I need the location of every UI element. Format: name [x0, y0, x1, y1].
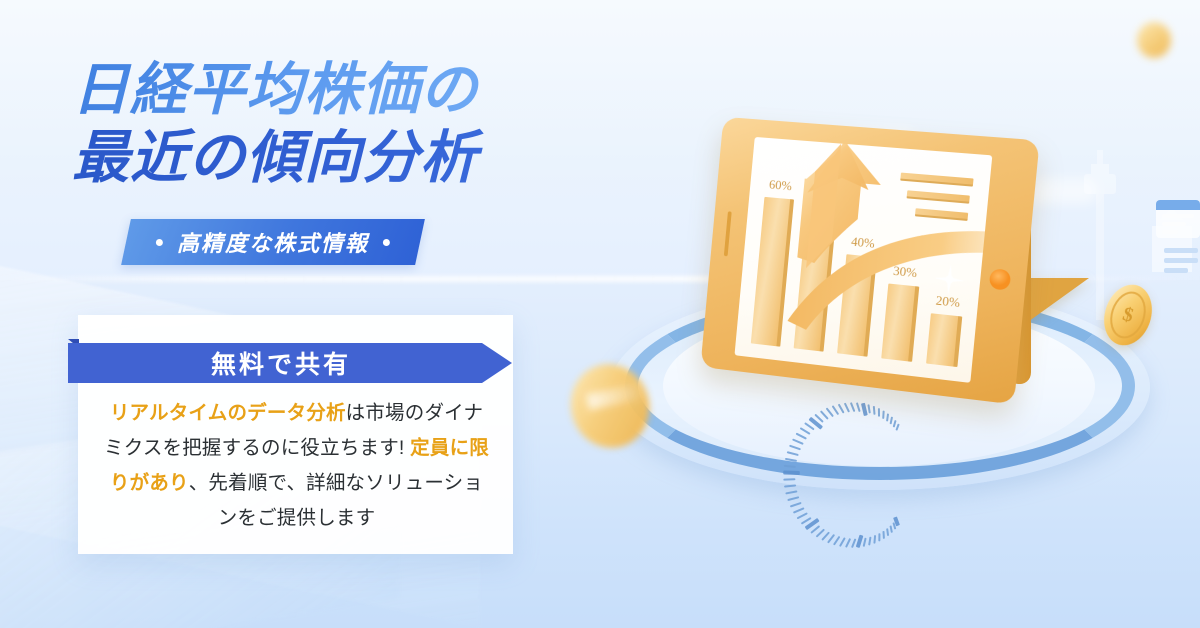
ribbon-arrow-shape: 無料で共有 — [68, 343, 512, 383]
platform-tick — [783, 477, 795, 480]
platform-tick — [784, 464, 796, 468]
subtitle-badge: 高精度な株式情報 — [121, 219, 425, 265]
illustration-stage: 60%50%40%30%20% — [565, 0, 1200, 628]
platform-tick — [889, 525, 893, 533]
headline: 日経平均株価の 最近の傾向分析 — [72, 56, 592, 192]
platform-tick — [793, 506, 805, 513]
platform-tick — [792, 438, 804, 445]
promo-banner: 日経平均株価の 最近の傾向分析 高精度な株式情報 無料で共有 リアルタイムのデー… — [0, 0, 1200, 628]
platform-tick — [882, 530, 885, 538]
coin-symbol: $ — [1120, 303, 1136, 328]
coin-icon — [1137, 22, 1171, 58]
card-body-text: リアルタイムのデータ分析は市場のダイナミクスを把握するのに役立ちます! 定員に限… — [104, 396, 489, 536]
tablet-screen: 60%50%40%30%20% — [734, 137, 992, 383]
subtitle-badge-label: 高精度な株式情報 — [177, 226, 369, 258]
platform-tick — [886, 528, 889, 536]
highlight-phrase-1: リアルタイムのデータ分析 — [110, 402, 346, 424]
platform-tick — [787, 450, 799, 455]
platform-tick — [886, 413, 889, 421]
tablet-device: 60%50%40%30%20% — [700, 117, 1039, 405]
platform-tick — [789, 444, 801, 450]
platform-tick — [845, 537, 851, 547]
coin-ring: $ — [1104, 287, 1151, 343]
bar-chart: 60%50%40%30%20% — [734, 137, 992, 383]
headline-line-1: 日経平均株価の — [72, 56, 592, 124]
tablet-home-button — [989, 268, 1012, 290]
up-arrow-icon — [734, 137, 992, 377]
platform-tick — [796, 511, 807, 518]
platform-tick — [895, 423, 900, 430]
platform-tick — [868, 536, 872, 545]
platform-tick — [882, 410, 885, 418]
platform-tick — [873, 535, 876, 544]
bullet-dot-icon — [383, 239, 390, 246]
platform-tick — [873, 405, 876, 414]
platform-tick — [850, 401, 856, 411]
platform-tick — [862, 537, 866, 546]
ribbon-banner: 無料で共有 — [68, 339, 516, 383]
platform-tick — [783, 470, 800, 475]
platform-tick — [878, 408, 881, 417]
tablet-speaker-icon — [724, 211, 732, 256]
platform-tick — [785, 457, 797, 462]
bullet-dot-icon — [156, 239, 163, 246]
platform-tick — [867, 404, 871, 413]
ribbon-label: 無料で共有 — [211, 345, 369, 381]
platform-tick — [878, 533, 880, 541]
body-plain-2: 、先着順で、詳細なソリューションをご提供します — [189, 472, 483, 529]
headline-line-2: 最近の傾向分析 — [72, 124, 592, 192]
